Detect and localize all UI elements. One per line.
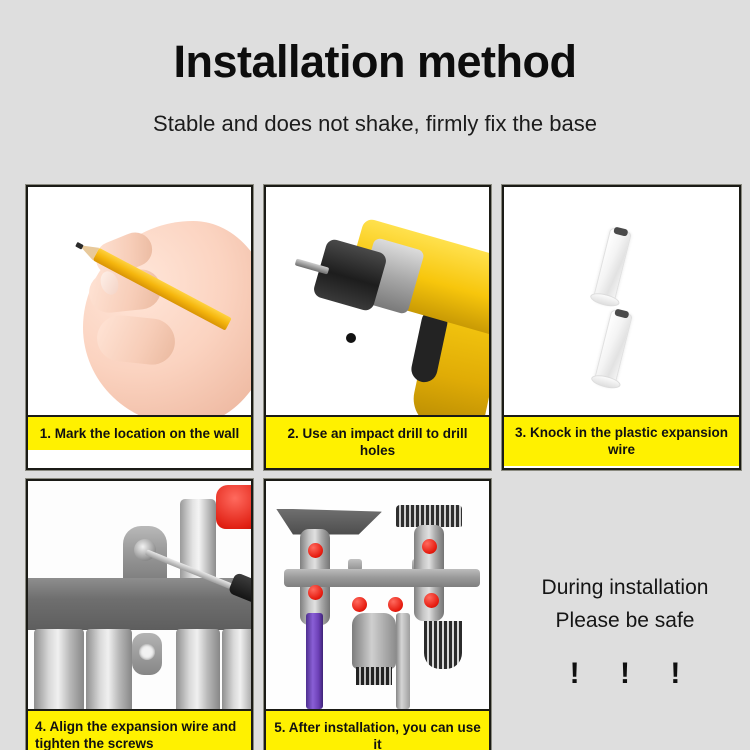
vacuum-tube-icon (86, 629, 132, 709)
step-5-caption: 5. After installation, you can use it (266, 711, 489, 750)
step-1-image (28, 187, 251, 417)
red-knob-icon (308, 543, 323, 558)
step-panel-4: 4. Align the expansion wire and tighten … (26, 479, 253, 750)
vacuum-tube-icon (222, 629, 251, 709)
finger-icon (95, 313, 177, 367)
red-knob-icon (308, 585, 323, 600)
red-knob-icon (422, 539, 437, 554)
red-knob-icon (388, 597, 403, 612)
step-5-image (266, 481, 489, 711)
step-2-image (266, 187, 489, 417)
holder-rail-icon (284, 569, 480, 587)
safety-note: During installation Please be safe ! ! ! (505, 572, 745, 691)
step-panel-5: 5. After installation, you can use it (264, 479, 491, 750)
brush-head-icon (396, 505, 462, 527)
red-accessory-icon (216, 485, 251, 529)
step-panel-2: 2. Use an impact drill to drill holes (264, 185, 491, 470)
page-subtitle: Stable and does not shake, firmly fix th… (0, 85, 750, 137)
vacuum-tube-icon (176, 629, 220, 709)
safety-note-line-1: During installation (505, 572, 745, 605)
wide-nozzle-icon (276, 509, 382, 535)
screw-hole-icon (132, 633, 162, 675)
drill-hole-lower-icon (346, 333, 356, 343)
holder-rail-icon (28, 578, 251, 630)
step-1-caption: 1. Mark the location on the wall (28, 417, 251, 450)
expansion-anchor-icon (593, 309, 633, 388)
safety-note-line-2: Please be safe (505, 605, 745, 638)
step-3-caption: 3. Knock in the plastic expansion wire (504, 417, 739, 466)
purple-wand-icon (306, 613, 323, 709)
mini-brush-icon (424, 621, 462, 669)
step-panel-3: 3. Knock in the plastic expansion wire (502, 185, 741, 470)
step-4-caption: 4. Align the expansion wire and tighten … (28, 711, 251, 750)
red-knob-icon (424, 593, 439, 608)
page-title: Installation method (0, 0, 750, 85)
grey-wand-icon (396, 613, 410, 709)
holder-scene (266, 481, 489, 709)
steps-row-1: 1. Mark the location on the wall 2. Use … (26, 185, 742, 470)
safety-exclamation-marks: ! ! ! (505, 657, 745, 691)
expansion-anchor-icon (592, 227, 632, 306)
red-knob-icon (352, 597, 367, 612)
step-panel-1: 1. Mark the location on the wall (26, 185, 253, 470)
page-header: Installation method Stable and does not … (0, 0, 750, 137)
step-3-image (504, 187, 739, 417)
step-2-caption: 2. Use an impact drill to drill holes (266, 417, 489, 468)
vacuum-tube-icon (34, 629, 84, 709)
crevice-tool-icon (352, 613, 396, 669)
step-4-image (28, 481, 251, 711)
